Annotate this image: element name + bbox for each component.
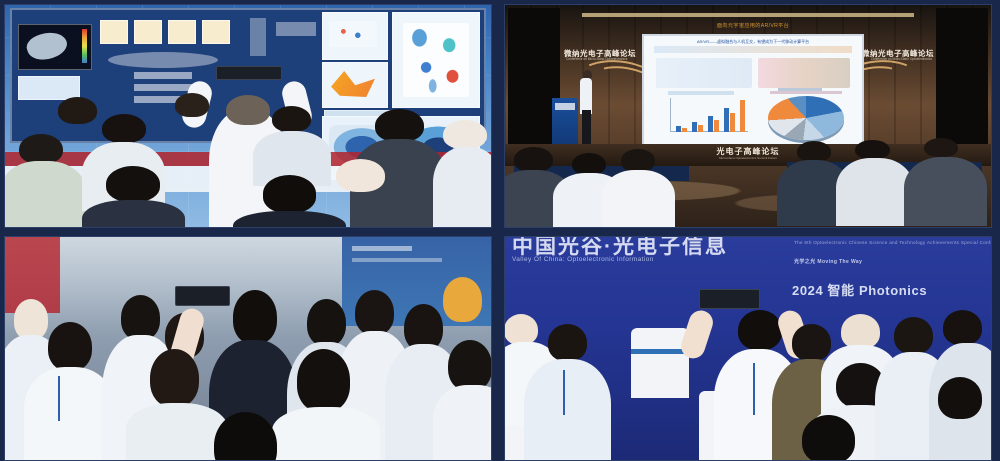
audience-body [524, 359, 612, 461]
audience-head [106, 166, 160, 202]
slide-caption-bar [668, 91, 734, 95]
diagram-node [134, 20, 162, 44]
audience-head [375, 109, 424, 142]
bar [730, 113, 735, 132]
projection-screen: 面向元宇宙应用的AR/VR平台 AR/VR——虚拟融合与人机互交，有望成为下一代… [642, 34, 864, 146]
smartphone [175, 286, 231, 306]
camera-device [699, 289, 760, 309]
audience-body [602, 170, 675, 228]
audience-head [548, 324, 587, 361]
audience-head [504, 314, 538, 346]
slide-image-row [758, 58, 850, 88]
audience-head [855, 140, 889, 160]
stage-top-light [582, 13, 914, 17]
audience-head [263, 175, 317, 212]
slide-title-wrap: 面向元宇宙应用的AR/VR平台 [644, 20, 862, 33]
diagram-label-bar [134, 72, 192, 79]
crowd-head [355, 290, 394, 335]
audience-body [433, 147, 492, 228]
crowd-head [448, 340, 492, 392]
thermal-simulation-panel [18, 24, 92, 70]
audience-head [924, 138, 958, 158]
lanyard [563, 370, 565, 416]
audience-head [514, 147, 553, 171]
diagram-node [100, 20, 128, 44]
panel-conference-audience: 中国光谷·光电子信息 Valley Of China: Optoelectron… [504, 236, 992, 461]
crowd-silhouettes [4, 236, 492, 461]
audience-head [102, 114, 146, 143]
bar [682, 128, 687, 132]
bar [714, 120, 719, 132]
slide-caption-bar [770, 91, 842, 94]
crowd-body [433, 385, 492, 461]
crowd-head [121, 295, 160, 340]
audience-arm [678, 307, 716, 361]
slide-icon-row [656, 58, 752, 88]
crowd-head [233, 290, 277, 344]
backdrop-subline-en: The 5th Optoelectronic Chinese Science a… [794, 240, 992, 245]
audience-body [836, 158, 914, 226]
forum-title-left-en: Conference on Micro-Nano Optoelectronics [566, 57, 627, 61]
audience-body [82, 200, 184, 228]
seated-audience [504, 134, 992, 228]
diagram-side-block [250, 18, 266, 56]
panel-exhibition-crowd [4, 236, 492, 461]
crowd-head [297, 349, 351, 412]
backdrop-slogan: 光学之光 Moving The Way [794, 258, 862, 265]
bar-chart-y-axis [670, 98, 671, 132]
photo-collage: 微纳光电子高峰论坛 Conference on Micro-Nano Optoe… [0, 0, 1000, 461]
microscopy-panel [322, 12, 388, 60]
audience-head [943, 310, 982, 345]
crowd-head [14, 299, 48, 340]
audience-body [904, 157, 987, 227]
panel-summit-forum-stage: 微纳光电子高峰论坛 Conference on Micro-Nano Optoe… [504, 4, 992, 228]
forum-title-right-en: Conference on Micro-Nano Optoelectronics [871, 57, 932, 61]
lanyard [58, 376, 60, 421]
slide-bar-chart [660, 98, 748, 138]
audience-head [272, 106, 311, 132]
audience-head [572, 153, 606, 176]
diagram-lens-shape [108, 52, 218, 68]
audience-head [841, 314, 880, 349]
audience-head [738, 310, 782, 350]
slide-title-cn: 面向元宇宙应用的AR/VR平台 [644, 20, 862, 33]
smartphone [216, 66, 281, 80]
chair [631, 328, 690, 398]
audience-body [4, 161, 87, 228]
audience-silhouettes [4, 89, 492, 228]
audience-head [443, 120, 487, 149]
audience-head [226, 95, 270, 126]
audience-head [175, 93, 209, 117]
audience-head [621, 149, 655, 172]
audience-rows [504, 286, 992, 461]
bar [676, 126, 681, 132]
audience-head [938, 377, 982, 419]
slide-subtitle-cn: AR/VR——虚拟融合与人机互交，有望成为下一代移动计算平台 [644, 39, 862, 45]
audience-body [233, 211, 345, 228]
crowd-body [272, 407, 379, 461]
bar [698, 125, 703, 132]
audience-head [802, 415, 856, 461]
crowd-head [443, 277, 482, 322]
bar [724, 108, 729, 132]
crowd-head [150, 349, 199, 408]
crowd-head [48, 322, 92, 372]
diagram-side-block [276, 22, 316, 36]
diagram-node [202, 20, 230, 44]
audience-head [58, 97, 97, 123]
bar [708, 116, 713, 132]
diagram-node [168, 20, 196, 44]
panel-lecture-hall-screen [4, 4, 492, 228]
lanyard [753, 363, 755, 416]
audience-head [797, 141, 831, 162]
speaker-body [580, 78, 592, 114]
slide-subtitle-band [654, 46, 852, 53]
audience-head [894, 317, 933, 354]
audience-head [792, 324, 831, 361]
audience-head [19, 134, 63, 165]
bar [740, 100, 745, 132]
crowd-head [307, 299, 346, 346]
bar [692, 122, 697, 132]
backdrop-headline-en: Valley Of China: Optoelectronic Informat… [512, 256, 654, 263]
pie-chart-caption [778, 88, 822, 91]
audience-head [336, 159, 385, 192]
